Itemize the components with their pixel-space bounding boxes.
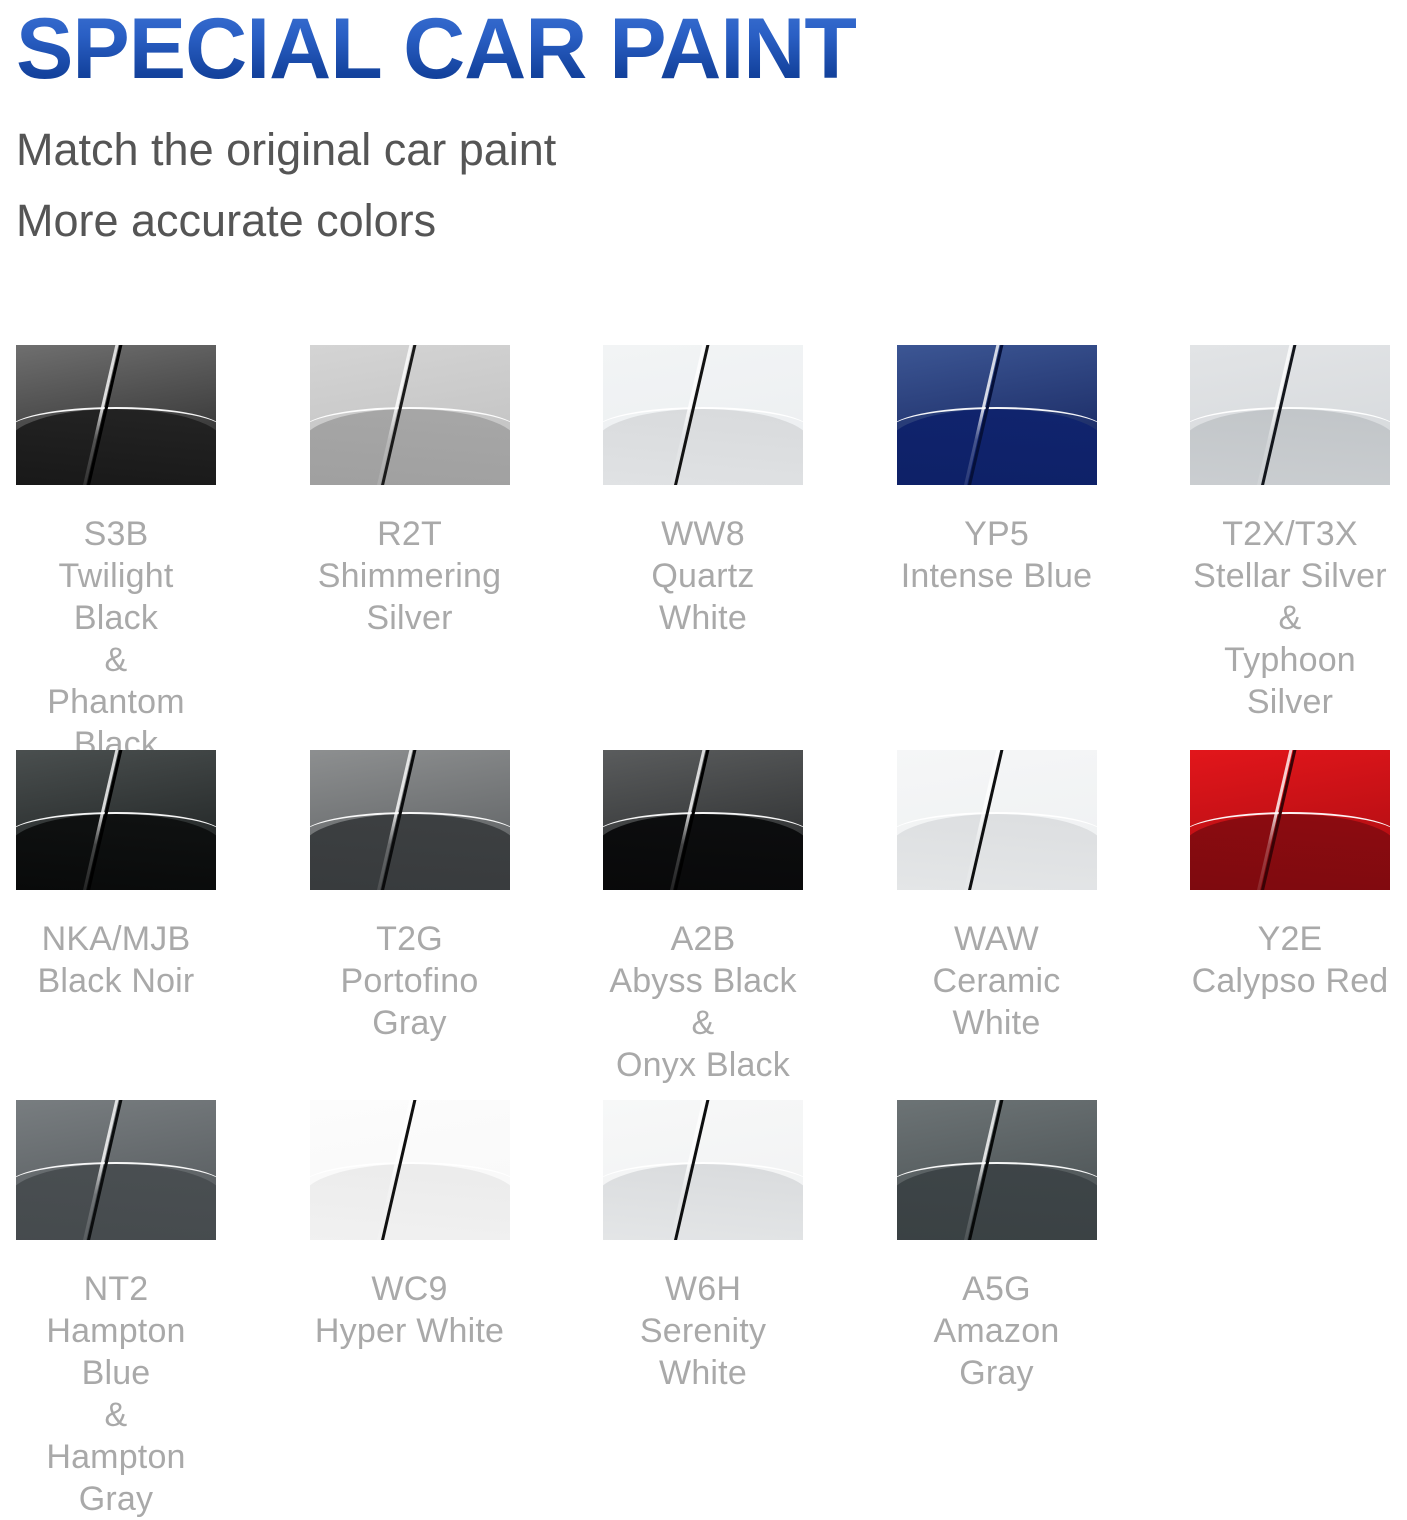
paint-code: Y2E [1190,918,1390,960]
paint-name: Abyss Black [603,960,803,1002]
paint-swatch-a5g[interactable]: A5GAmazon Gray [897,1100,1097,1394]
paint-swatch-a2b[interactable]: A2BAbyss Black&Onyx Black [603,750,803,1086]
paint-name: Twilight Black [16,555,216,639]
car-panel-image [897,1100,1097,1240]
panel-lower-surface-clip [603,409,803,485]
car-panel-image [897,345,1097,485]
panel-lower-surface [603,409,803,485]
paint-name: Amazon Gray [897,1310,1097,1394]
special-car-paint-infographic: SPECIAL CAR PAINT Match the original car… [0,0,1407,1431]
swatch-label: WAWCeramic White [897,890,1097,1044]
paint-swatch-wc9[interactable]: WC9Hyper White [310,1100,510,1352]
paint-code: WW8 [603,513,803,555]
panel-lower-surface [16,409,216,485]
panel-lower-surface-clip [897,409,1097,485]
paint-name: Portofino Gray [310,960,510,1044]
paint-name: Black Noir [16,960,216,1002]
paint-name: Hyper White [310,1310,510,1352]
paint-swatch-t2x-t3x[interactable]: T2X/T3XStellar Silver&Typhoon Silver [1190,345,1390,723]
swatch-label: T2GPortofino Gray [310,890,510,1044]
paint-name: & [16,639,216,681]
page-title: SPECIAL CAR PAINT [16,0,1396,94]
paint-name: & [1190,597,1390,639]
paint-name: Serenity White [603,1310,803,1394]
paint-name: Shimmering [310,555,510,597]
panel-lower-surface-clip [16,1164,216,1240]
paint-code: T2X/T3X [1190,513,1390,555]
paint-swatch-y2e[interactable]: Y2ECalypso Red [1190,750,1390,1002]
car-panel-image [603,750,803,890]
paint-code: R2T [310,513,510,555]
subtitle: Match the original car paint More accura… [16,94,1396,256]
panel-lower-surface-clip [310,409,510,485]
paint-name: Quartz White [603,555,803,639]
paint-code: WC9 [310,1268,510,1310]
car-panel-image [16,750,216,890]
paint-name: Typhoon Silver [1190,639,1390,723]
car-panel-image [16,345,216,485]
car-panel-image [310,1100,510,1240]
panel-lower-surface [897,409,1097,485]
subtitle-line-1: Match the original car paint [16,114,1396,185]
panel-lower-surface [897,814,1097,890]
car-panel-image [897,750,1097,890]
paint-swatch-waw[interactable]: WAWCeramic White [897,750,1097,1044]
paint-swatch-w6h[interactable]: W6HSerenity White [603,1100,803,1394]
car-panel-image [310,750,510,890]
swatch-label: R2TShimmeringSilver [310,485,510,639]
paint-name: & [603,1002,803,1044]
swatch-label: A2BAbyss Black&Onyx Black [603,890,803,1086]
paint-swatch-t2g[interactable]: T2GPortofino Gray [310,750,510,1044]
subtitle-line-2: More accurate colors [16,185,1396,256]
panel-lower-surface-clip [1190,409,1390,485]
car-panel-image [603,345,803,485]
car-panel-image [603,1100,803,1240]
panel-lower-surface [897,1164,1097,1240]
panel-lower-surface-clip [603,814,803,890]
car-panel-image [1190,750,1390,890]
panel-lower-surface [16,814,216,890]
paint-name: Stellar Silver [1190,555,1390,597]
paint-swatch-r2t[interactable]: R2TShimmeringSilver [310,345,510,639]
paint-name: & [16,1394,216,1436]
swatch-label: WW8Quartz White [603,485,803,639]
panel-lower-surface [603,1164,803,1240]
paint-swatch-ww8[interactable]: WW8Quartz White [603,345,803,639]
swatch-label: WC9Hyper White [310,1240,510,1352]
car-panel-image [310,345,510,485]
paint-code: WAW [897,918,1097,960]
paint-name: Silver [310,597,510,639]
paint-name: Hampton Blue [16,1310,216,1394]
panel-lower-surface [310,1164,510,1240]
paint-name: Ceramic White [897,960,1097,1044]
paint-swatch-nka-mjb[interactable]: NKA/MJBBlack Noir [16,750,216,1002]
header: SPECIAL CAR PAINT Match the original car… [16,0,1396,256]
panel-lower-surface [1190,814,1390,890]
paint-code: W6H [603,1268,803,1310]
panel-lower-surface-clip [1190,814,1390,890]
paint-code: A2B [603,918,803,960]
panel-lower-surface [310,814,510,890]
panel-lower-surface-clip [310,1164,510,1240]
panel-lower-surface [310,409,510,485]
paint-name: Calypso Red [1190,960,1390,1002]
paint-swatch-yp5[interactable]: YP5Intense Blue [897,345,1097,597]
panel-lower-surface [1190,409,1390,485]
panel-lower-surface-clip [603,1164,803,1240]
paint-swatch-nt2[interactable]: NT2Hampton Blue&Hampton Gray [16,1100,216,1520]
car-panel-image [16,1100,216,1240]
swatch-label: T2X/T3XStellar Silver&Typhoon Silver [1190,485,1390,723]
paint-name: Hampton Gray [16,1436,216,1520]
paint-code: NKA/MJB [16,918,216,960]
swatch-label: Y2ECalypso Red [1190,890,1390,1002]
panel-lower-surface-clip [16,409,216,485]
panel-lower-surface-clip [897,1164,1097,1240]
paint-swatch-s3b[interactable]: S3BTwilight Black&Phantom Black [16,345,216,765]
paint-code: A5G [897,1268,1097,1310]
panel-lower-surface-clip [16,814,216,890]
car-panel-image [1190,345,1390,485]
panel-lower-surface-clip [310,814,510,890]
paint-name: Intense Blue [897,555,1097,597]
paint-code: NT2 [16,1268,216,1310]
panel-lower-surface [16,1164,216,1240]
swatch-label: A5GAmazon Gray [897,1240,1097,1394]
panel-lower-surface [603,814,803,890]
swatch-label: S3BTwilight Black&Phantom Black [16,485,216,765]
swatch-label: W6HSerenity White [603,1240,803,1394]
swatch-label: NT2Hampton Blue&Hampton Gray [16,1240,216,1520]
panel-lower-surface-clip [897,814,1097,890]
paint-code: S3B [16,513,216,555]
swatch-label: NKA/MJBBlack Noir [16,890,216,1002]
paint-name: Onyx Black [603,1044,803,1086]
paint-code: T2G [310,918,510,960]
swatch-label: YP5Intense Blue [897,485,1097,597]
paint-code: YP5 [897,513,1097,555]
